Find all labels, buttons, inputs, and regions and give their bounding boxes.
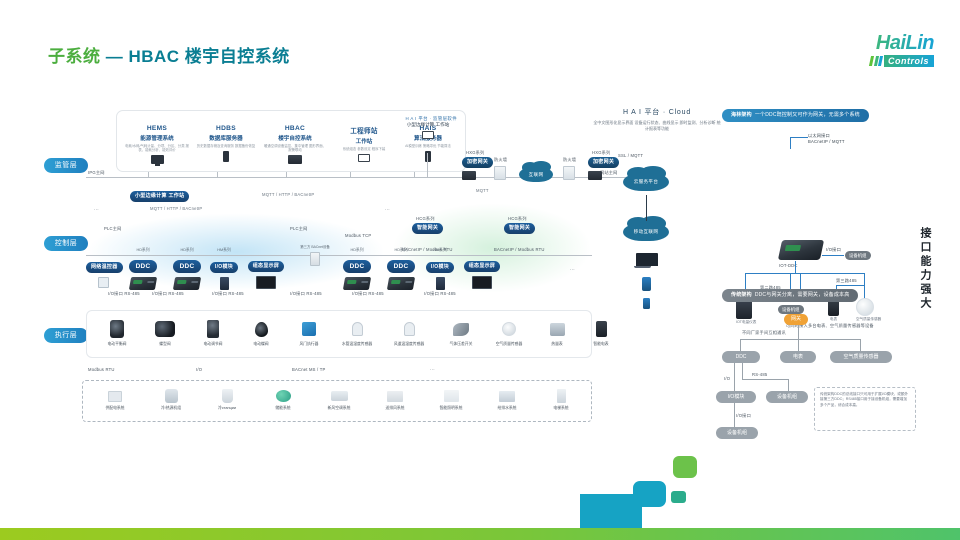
hai-cloud-title: H A I 平台 · Cloud [592, 107, 722, 117]
mobile-internet-cloud: 移动互联网 [623, 223, 669, 241]
traditional-arch-badge-bold: 传统架构 [731, 292, 752, 298]
traditional-meter: 电表 [780, 351, 816, 363]
hailin-logo: HaiLin Controls [822, 33, 934, 73]
laptop-icon [636, 253, 658, 266]
io-rs485-5: I/O接口 RS-485 [352, 291, 384, 297]
bus485-stem [795, 261, 796, 273]
edge-workstation: 小型边缘计算 工作站 [398, 122, 458, 139]
device-box-1: 设备机组 [845, 251, 871, 260]
drop-edge-ws [427, 153, 428, 177]
supervisory-card: H A I 平台 · 监管层软件 HEMS 能源管理系统 电耗/水耗/气耗计量、… [116, 110, 466, 172]
footer-gradient-bar [0, 528, 960, 540]
encrypt-gateway-right: 加密网关 [588, 157, 619, 168]
page-title-dash: — [106, 47, 124, 66]
hai-cloud-block: H A I 平台 · Cloud 全中文图形化显示界面 设备运行状态、曲线显示 … [592, 107, 722, 131]
control-node-ddc-1: HD系列 DDC [128, 248, 158, 290]
system-item-8: 电梯系统 [533, 386, 589, 411]
io-module-1-icon [220, 277, 229, 290]
execution-card: 电动平衡阀 蝶型阀 电动调节阀 电动蝶阀 风门执行器 水管温湿度传感器 风道温湿… [86, 310, 592, 358]
exec-label-5: 水管温湿度传感器 [331, 342, 383, 347]
protocol-io: I/O [196, 367, 202, 372]
exec-label-4: 风门执行器 [283, 342, 335, 347]
supervisory-item-hbac: HBAC 楼宇自控系统 暖通空调设备监控、集中管理 图形界面、报警联动 [263, 125, 327, 164]
ddc-3-icon [343, 277, 371, 290]
cloud-service-platform-label: 云服务平台 [623, 173, 669, 191]
hmi-screen-2-icon [472, 276, 492, 289]
duct-sensor-icon [404, 322, 415, 336]
firewall-left-label: 防火墙 [494, 157, 507, 163]
hcg-series-1: HCG系列 [416, 216, 435, 222]
bus-supervisory [86, 177, 646, 178]
ddc-4-icon [387, 277, 415, 290]
hxg-series-right: HXG系列 [592, 150, 610, 156]
drop-hems [148, 172, 149, 178]
trad-io-down [734, 403, 735, 427]
io-line-h [822, 255, 844, 256]
elevator-icon [557, 389, 566, 403]
hems-name: 能源管理系统 [125, 134, 189, 142]
right-device-label-3: 空气质量传感器 [856, 317, 881, 322]
architecture-diagram: 监管层 控制层 执行层 H A I 平台 · 监管层软件 HEMS 能源管理系统… [0, 95, 960, 445]
hbac-name: 楼宇自控系统 [263, 134, 327, 142]
drop-hais [414, 172, 415, 178]
bus485-h2 [836, 285, 864, 286]
footer-block-teal-mid [633, 481, 666, 507]
fresh-air-ahu-icon [331, 391, 348, 401]
control-node-io-1: HM系列 I/O模块 [208, 248, 240, 290]
trad-d1 [740, 339, 741, 351]
damper-actuator-icon [302, 322, 316, 336]
pipe-sensor-icon [352, 322, 363, 336]
drop-engineer [350, 172, 351, 178]
encrypt-gateway-device-right [588, 171, 602, 180]
exec-item-7: 气体压差开关 [435, 316, 487, 347]
protocol-web: 网站主网 [600, 170, 618, 176]
trad-485-down [788, 379, 789, 391]
control-node-thermostat: 网络温控器 [86, 255, 120, 288]
protocol-mqtt-http-bacnet-1: MQTT / HTTP / BACnetIP [262, 192, 314, 197]
smart-meter-icon [596, 321, 607, 337]
right-device-label-1: 设备机组 [778, 305, 804, 314]
ddc-2-icon [173, 277, 201, 290]
encrypt-gateway-left: 加密网关 [462, 157, 493, 168]
drop-hdbs [217, 172, 218, 178]
system-label-5: 送排风系统 [367, 406, 423, 411]
traditional-ddc: DDC [722, 351, 760, 363]
iot-ddc-device [778, 240, 824, 260]
hbac-desc: 暖通空调设备监控、集中管理 图形界面、报警联动 [263, 144, 327, 153]
drop-hbac [286, 172, 287, 178]
right-device-label-2: 电表 [828, 317, 839, 322]
monitor-icon [151, 155, 164, 164]
system-item-1: 冷/热源机组 [143, 386, 199, 411]
io-rs485-6: I/O接口 RS-485 [424, 291, 456, 297]
systems-card: 供配电系统 冷/热源机组 冷станции 储能系统 新风空调系统 送排风系统 … [82, 380, 592, 422]
air-quality-sensor-icon [856, 298, 874, 316]
system-label-2: 冷станции [199, 406, 255, 411]
system-label-6: 智能照明系统 [423, 406, 479, 411]
system-label-4: 新风空调系统 [311, 406, 367, 411]
supervisory-item-hdbs: HDBS 数据库服务器 历史数据存储及查询服务 数据备份恢复 [194, 125, 258, 162]
system-item-6: 智能照明系统 [423, 386, 479, 411]
trad-bus-h [740, 339, 860, 340]
io-2-series: HM系列 [424, 248, 456, 253]
hailin-arch-badge: 海林架构一个DDC既控制又可作为网关，无需多个系统 [722, 109, 869, 122]
ddc-3-pill: DDC [343, 260, 372, 273]
cooling-station-icon [222, 389, 233, 403]
exec-label-8: 空气质量传感器 [483, 342, 535, 347]
traditional-note-top: 不同厂家手间互相通讯 [742, 330, 786, 336]
io-rs485-1: I/O接口 RS-485 [108, 291, 140, 297]
exec-label-2: 电动调节阀 [187, 342, 239, 347]
system-label-1: 冷/热源机组 [143, 406, 199, 411]
ddc-2-series: HD系列 [172, 248, 202, 253]
ddc-4-pill: DDC [387, 260, 416, 273]
heat-meter-icon [550, 323, 565, 336]
firewall-left-icon [494, 166, 506, 180]
protocol-modbus-rtu: Modbus RTU [88, 367, 115, 372]
logo-wordmark: HaiLin [822, 33, 934, 53]
screen-1-pill: 组态显示屏 [248, 261, 285, 272]
pressure-switch-icon [453, 323, 469, 336]
exec-item-2: 电动调节阀 [187, 316, 239, 347]
system-label-7: 给排水系统 [479, 406, 535, 411]
internet-cloud: 互联网 [519, 167, 553, 182]
protocol-modbus-tcp: Modbus TCP [345, 233, 371, 238]
bus485-h [745, 273, 865, 274]
water-supply-icon [499, 391, 515, 402]
ddc-1-series: HD系列 [128, 248, 158, 253]
internet-cloud-label: 互联网 [519, 167, 553, 182]
io-port-label: I/O接口 [826, 247, 841, 253]
system-item-4: 新风空调系统 [311, 386, 367, 411]
protocol-bacnet-mstp: BACnet MS / TP [292, 367, 325, 372]
ellipsis-mid: ··· [385, 207, 390, 212]
ddc-1-icon [129, 277, 157, 290]
motorized-disk-valve-icon [255, 322, 268, 337]
screen-2-series [462, 248, 502, 252]
protocol-plc-2: PLC主网 [290, 226, 308, 232]
firewall-right-label: 防火墙 [563, 157, 576, 163]
server-tower-icon [223, 151, 229, 162]
io-module-2-icon [436, 277, 445, 290]
protocol-mqtt: MQTT [476, 188, 489, 193]
ddc-1-pill: DDC [129, 260, 158, 273]
supervisory-item-hems: HEMS 能源管理系统 电耗/水耗/气耗计量、分项、分区、分类 报表、能耗分析、… [125, 125, 189, 164]
ventilation-icon [387, 391, 403, 402]
io-rs485-2: I/O接口 RS-485 [152, 291, 184, 297]
footer-block-teal-small [671, 491, 686, 503]
right-device-label-0: IOT电量仪表 [736, 320, 756, 325]
hxg-series-left: HXG系列 [466, 150, 484, 156]
edge-workstation-icon [422, 131, 434, 139]
layer-badge-execution: 执行层 [44, 328, 88, 343]
air-quality-icon [502, 322, 516, 336]
trad-d3 [860, 339, 861, 351]
right-device-meter: 电表 [828, 299, 839, 322]
workstation-icon [358, 154, 370, 162]
uplink-line-v [790, 137, 791, 149]
io-2-pill: I/O模块 [426, 262, 454, 273]
energy-storage-icon [276, 390, 291, 402]
exec-item-3: 电动蝶阀 [235, 316, 287, 347]
exec-label-7: 气体压差开关 [435, 342, 487, 347]
tablet-icon [642, 277, 651, 291]
hailin-arch-badge-bold: 海林架构 [731, 112, 752, 118]
system-item-3: 储能系统 [255, 386, 311, 411]
trad-ddc-485-v [742, 363, 743, 379]
exec-label-0: 电动平衡阀 [91, 342, 143, 347]
valve-icon [110, 320, 124, 338]
system-label-8: 电梯系统 [533, 406, 589, 411]
exec-item-0: 电动平衡阀 [91, 316, 143, 347]
control-node-bacnet-3rd: 第三方 BACnet设备 [296, 245, 334, 266]
logo-bars-icon [870, 56, 882, 66]
traditional-note-text: 传统架构DDC的总线接口只可用于扩展I/O模块，或额外接第三方DDC；RS485… [820, 392, 908, 407]
third-party-bacnet-label: 第三方 BACnet设备 [296, 245, 334, 249]
hems-desc: 电耗/水耗/气耗计量、分项、分区、分类 报表、能耗分析、能效评价 [125, 144, 189, 153]
exec-label-3: 电动蝶阀 [235, 342, 287, 347]
system-item-0: 供配电系统 [87, 386, 143, 411]
exec-item-5: 水管温湿度传感器 [331, 316, 383, 347]
third-party-device-icon [310, 252, 320, 266]
trad-io-port-label: I/O接口 [736, 413, 751, 419]
bus485-d4 [864, 273, 865, 299]
ddc-4-series: HD系列 [386, 248, 416, 253]
control-node-ddc-4: HD系列 DDC [386, 248, 416, 290]
hdbs-name: 数据库服务器 [194, 134, 258, 142]
trad-gw-stem [798, 325, 799, 339]
engineer-code: 工程师站 [332, 125, 396, 135]
protocol-ssl-mqtt: SSL / MQTT [618, 153, 643, 158]
encrypt-gateway-device-left [462, 171, 476, 180]
firewall-right-icon [563, 166, 575, 180]
traditional-io-module: I/O模块 [716, 391, 756, 403]
engineer-name: 工作站 [332, 137, 396, 145]
exec-item-1: 蝶型阀 [139, 316, 191, 347]
supervisory-item-engineer: 工程师站 工作站 系统组态 参数设定 程序下装 [332, 125, 396, 162]
page-title-main: HBAC 楼宇自控系统 [128, 47, 289, 66]
mobile-internet-label: 移动互联网 [623, 223, 669, 241]
cloud-service-platform: 云服务平台 [623, 173, 669, 191]
butterfly-valve-icon [155, 321, 175, 337]
hbac-code: HBAC [263, 125, 327, 132]
iot-power-meter-icon [736, 299, 752, 319]
exec-item-6: 风道温湿度传感器 [383, 316, 435, 347]
io-rs485-4: I/O接口 RS-485 [290, 291, 322, 297]
chiller-heat-source-icon [165, 389, 178, 403]
smart-gateway-1: 智能网关 [412, 223, 443, 234]
exec-label-6: 风道温湿度传感器 [383, 342, 435, 347]
rack-server-icon [288, 155, 302, 164]
edge-workstation-label: 小型边缘计算 工作站 [398, 122, 458, 128]
thermostat-icon [98, 277, 109, 288]
control-node-ddc-3: HD系列 DDC [342, 248, 372, 290]
bus-control [86, 255, 592, 256]
hmi-screen-1-icon [256, 276, 276, 289]
traditional-gateway: 网关 [784, 314, 808, 325]
regulating-valve-icon [207, 320, 219, 338]
trad-ddc-down [734, 363, 735, 391]
hdbs-desc: 历史数据存储及查询服务 数据备份恢复 [194, 144, 258, 148]
system-item-7: 给排水系统 [479, 386, 535, 411]
page-title-prefix: 子系统 [48, 47, 101, 66]
io-1-pill: I/O模块 [210, 262, 238, 273]
traditional-note: 传统架构DDC的总线接口只可用于扩展I/O模块，或额外接第三方DDC；RS485… [814, 387, 916, 431]
exec-item-8: 空气质量传感器 [483, 316, 535, 347]
page-title: 子系统 — HBAC 楼宇自控系统 [48, 42, 290, 67]
exec-item-10: 智能电表 [575, 316, 627, 347]
traditional-device-2: 设备机组 [716, 427, 758, 439]
system-item-2: 冷станции [199, 386, 255, 411]
embedded-edge-label: 小型边缘计算 工作站 [135, 193, 184, 199]
system-item-5: 送排风系统 [367, 386, 423, 411]
trad-d2 [798, 339, 799, 351]
smart-lighting-icon [444, 390, 459, 402]
phone-icon [643, 298, 650, 309]
uplink-line-h [790, 137, 808, 138]
screen-1-series [246, 248, 286, 252]
layer-badge-supervisory: 监管层 [44, 158, 88, 173]
traditional-device-1: 设备机组 [766, 391, 808, 403]
ellipsis-left: ··· [94, 207, 99, 212]
control-node-screen-2: 组态显示屏 [462, 248, 502, 289]
smart-gateway-2: 智能网关 [504, 223, 535, 234]
slogan-vertical: 接口能力强大 [916, 227, 932, 311]
footer-block-green [673, 456, 697, 478]
engineer-desc: 系统组态 参数设定 程序下装 [332, 147, 396, 151]
right-device-aq: 空气质量传感器 [856, 298, 881, 322]
system-label-0: 供配电系统 [87, 406, 143, 411]
exec-item-4: 风门执行器 [283, 316, 335, 347]
layer-badge-control: 控制层 [44, 236, 88, 251]
control-node-screen-1: 组态显示屏 [246, 248, 286, 289]
cloud-uplink [646, 195, 647, 221]
hai-cloud-desc: 全中文图形化显示界面 设备运行状态、曲线显示 即时监测、分析诊断 统计报表等功能 [592, 120, 722, 131]
traditional-arch-badge: 传统架构DDC与网关分离，需要网关，设备成本高 [722, 289, 858, 302]
thermostat-pill: 网络温控器 [86, 262, 123, 273]
trad-io-label: I/O [724, 376, 730, 381]
exec-label-10: 智能电表 [575, 342, 627, 347]
protocol-plc-1: PLC主网 [104, 226, 122, 232]
uplink-proto-label: BACnetIP / MQTT [808, 139, 845, 144]
hailin-arch-badge-text: 一个DDC既控制又可作为网关，无需多个系统 [755, 112, 860, 118]
right-device-panel: IOT电量仪表 [736, 299, 756, 325]
ddc-2-pill: DDC [173, 260, 202, 273]
screen-2-pill: 组态显示屏 [464, 261, 501, 272]
io-rs485-3: I/O接口 RS-485 [212, 291, 244, 297]
hcg-series-2: HCG系列 [508, 216, 527, 222]
logo-subtitle: Controls [884, 55, 934, 67]
traditional-air-sensor: 空气质量传感器 [830, 351, 892, 363]
hems-code: HEMS [125, 125, 189, 132]
protocol-ipg: IPG主网 [88, 170, 105, 176]
exec-label-1: 蝶型阀 [139, 342, 191, 347]
trad-485-label: RS-485 [752, 372, 767, 377]
power-distribution-icon [108, 391, 122, 402]
ellipsis-exec: ··· [430, 367, 435, 372]
io-1-series: HM系列 [208, 248, 240, 253]
protocol-mqtt-http-bacnet-2: MQTT / HTTP / BACnetIP [150, 206, 202, 211]
traditional-arch-badge-text: DDC与网关分离，需要网关，设备成本高 [755, 292, 850, 298]
control-node-io-2: HM系列 I/O模块 [424, 248, 456, 290]
ellipsis-right: ··· [570, 267, 575, 272]
system-label-3: 储能系统 [255, 406, 311, 411]
hais-desc: AI模型训练 策略寻优 节能算法 [396, 144, 460, 148]
control-node-ddc-2: HD系列 DDC [172, 248, 202, 290]
algorithm-server-icon [425, 151, 431, 162]
trad-485-h [742, 379, 788, 380]
ddc-3-series: HD系列 [342, 248, 372, 253]
rs485-2-label: 第三路485 [836, 278, 857, 284]
hdbs-code: HDBS [194, 125, 258, 132]
embedded-edge-gateway: 小型边缘计算 工作站 [130, 191, 189, 202]
